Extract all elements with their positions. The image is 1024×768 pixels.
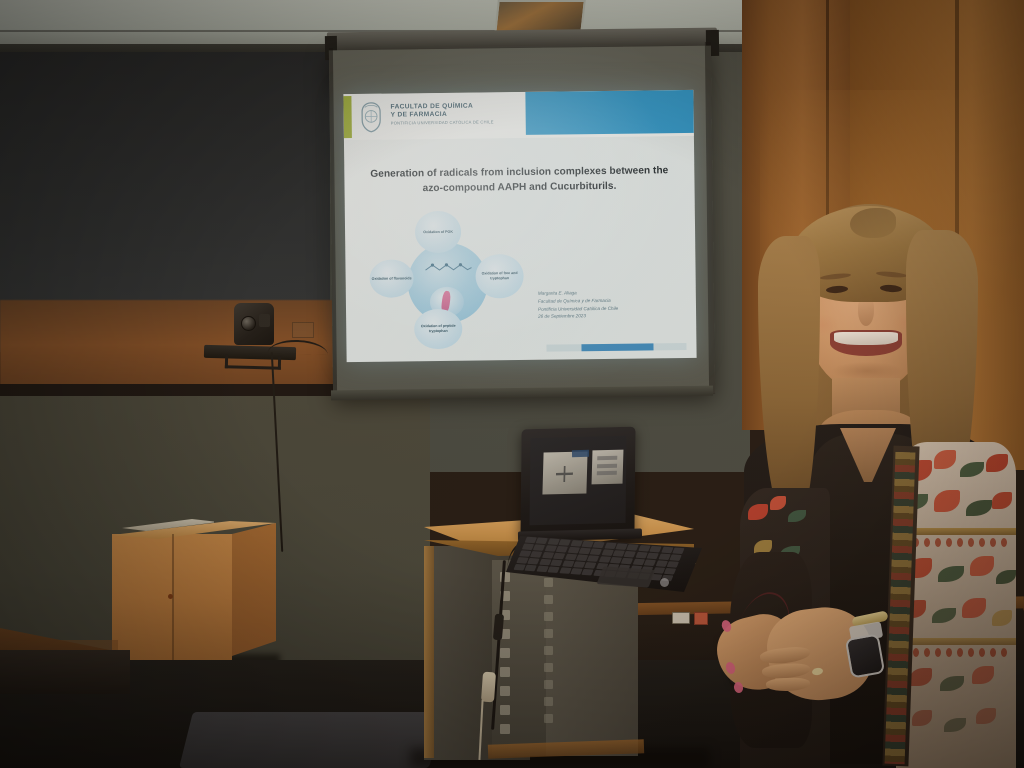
left-wall-trim: [0, 384, 336, 396]
diagram-bubble-bottom: Oxidation of peptide tryptophan: [414, 309, 462, 350]
camera-lens-icon: [241, 316, 256, 331]
molecule-structure-icon: [423, 261, 473, 278]
stage-riser: [0, 650, 130, 694]
hair-part: [850, 208, 896, 238]
presenter: [700, 196, 1024, 768]
laptop-slide-preview-pane: [542, 451, 587, 494]
wall-switch-plate[interactable]: [672, 612, 690, 624]
camera-side-module: [259, 314, 270, 327]
laptop-window-titlebar: [572, 450, 589, 457]
teeth: [834, 332, 898, 345]
cabinet-side-panel: [232, 523, 276, 656]
faculty-logo-text: FACULTAD DE QUÍMICA Y DE FARMACIA PONTIF…: [390, 102, 493, 126]
wall-mount-plate: [292, 322, 314, 338]
nose: [858, 296, 874, 326]
diagram-bubble-left-label: Oxidation of flavonoids: [370, 276, 414, 281]
slide-author-block: Margarita E. Aliaga Facultad de Química …: [538, 288, 680, 321]
laptop-logo: [660, 578, 669, 587]
diagram-bubble-bottom-label: Oxidation of peptide tryptophan: [414, 324, 462, 334]
slide-diagram: Oxidation of PGK Oxidation of free and t…: [363, 210, 529, 352]
laptop-notes-pane: [592, 450, 624, 485]
diagram-bubble-right: Oxidation of free and tryptophan: [475, 254, 524, 299]
slide-header-blue-block: [525, 90, 694, 135]
slide-header-green-accent: [343, 96, 352, 138]
lecture-room-scene: FACULTAD DE QUÍMICA Y DE FARMACIA PONTIF…: [0, 0, 1024, 768]
smiling-mouth: [830, 330, 902, 356]
laptop-touchpad[interactable]: [597, 566, 656, 587]
presentation-date: 26 de Septiembre 2023: [538, 311, 680, 321]
diagram-bubble-right-label: Oxidation of free and tryptophan: [476, 271, 524, 281]
floor-mat: [179, 712, 443, 768]
white-cable-connector: [481, 672, 496, 703]
projected-slide: FACULTAD DE QUÍMICA Y DE FARMACIA PONTIF…: [343, 90, 696, 362]
diagram-bubble-left: Oxidation of flavonoids: [369, 259, 413, 298]
smartwatch[interactable]: [845, 633, 885, 678]
cabinet-knob[interactable]: [168, 594, 173, 599]
diagram-bubble-top-label: Oxidation of PGK: [421, 229, 455, 234]
faculty-line-2: Y DE FARMACIA: [391, 111, 494, 120]
podium-perforation-column-right: [544, 578, 553, 738]
podium-wood-edge: [424, 546, 434, 758]
slide-progress-bar: [581, 343, 653, 351]
university-crest-icon: [357, 102, 384, 133]
slide-title: Generation of radicals from inclusion co…: [360, 164, 678, 197]
